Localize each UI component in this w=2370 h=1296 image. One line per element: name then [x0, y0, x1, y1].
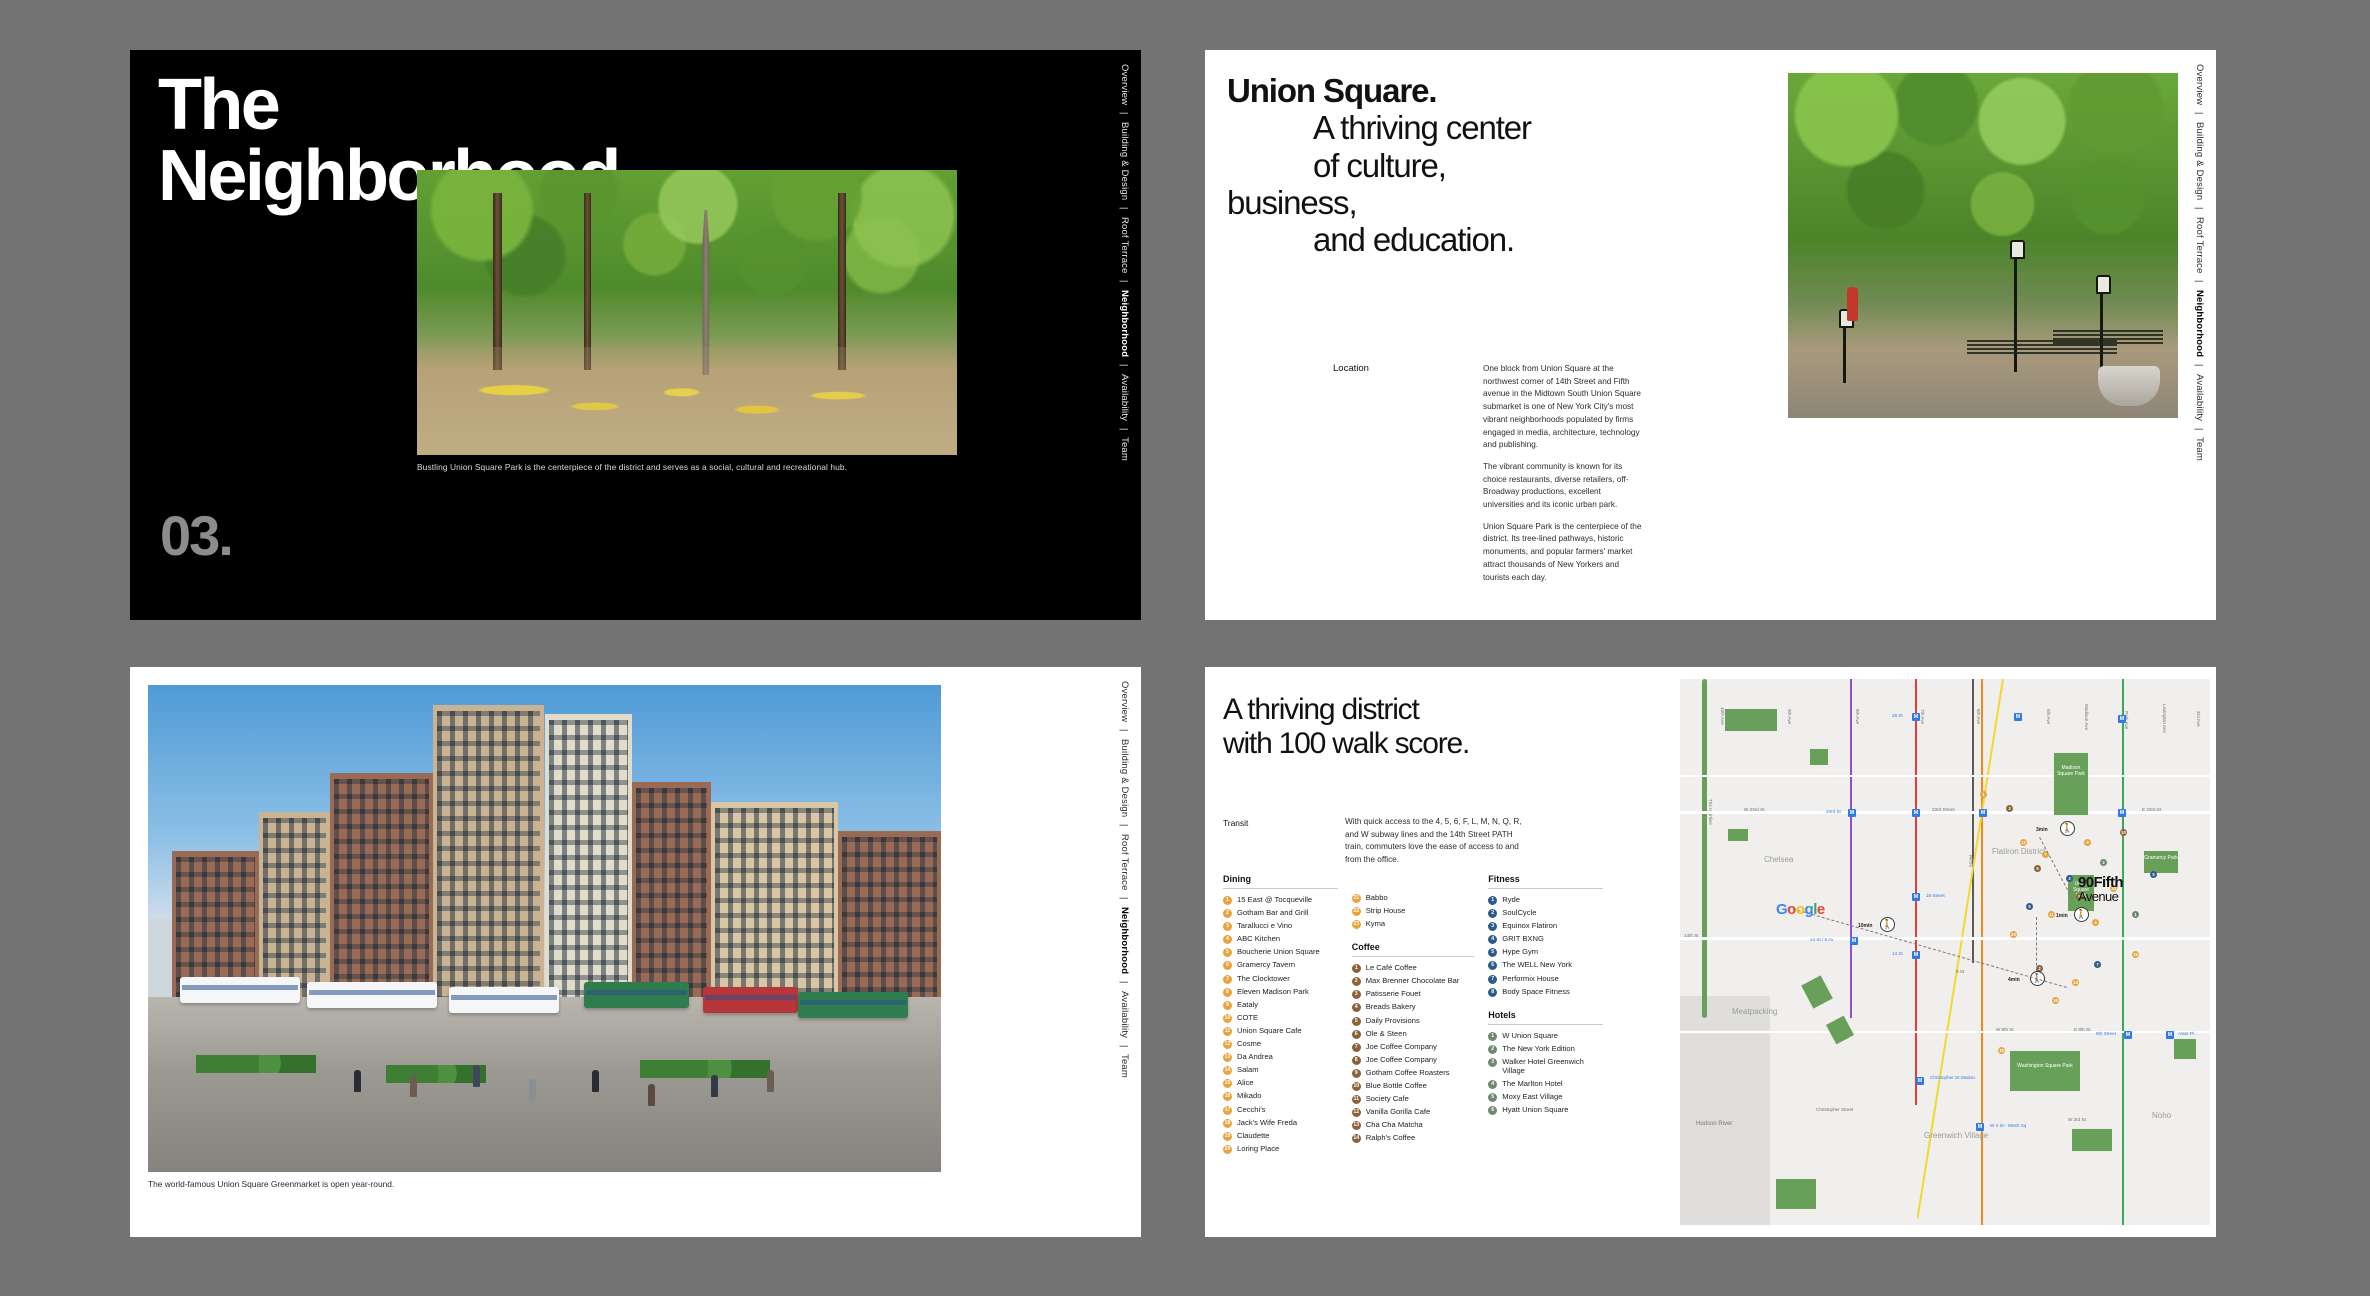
amenity-name: Breads Bakery: [1366, 1003, 1416, 1012]
map-station-8th-street: 8th Street: [2096, 1031, 2116, 1036]
amenity-item[interactable]: 5Hype Gym: [1488, 948, 1603, 957]
amenity-number: 9: [1223, 1001, 1232, 1010]
nav-item-neighborhood[interactable]: Neighborhood: [1119, 290, 1129, 357]
amenity-item[interactable]: 10COTE: [1223, 1014, 1338, 1023]
walk-time-pin: 🚶: [2074, 907, 2089, 922]
amenity-number: 14: [1352, 1134, 1361, 1143]
amenity-item[interactable]: 7Performix House: [1488, 975, 1603, 984]
map-station-28st: 28 St: [1892, 713, 1903, 718]
amenity-name: Salam: [1237, 1066, 1259, 1075]
map-ave-8th: 8th Ave: [1855, 709, 1860, 724]
amenity-number: 7: [1352, 1043, 1361, 1052]
nav-item-roof-terrace[interactable]: Roof Terrace: [1119, 217, 1129, 274]
amenity-number: 13: [1352, 1121, 1361, 1130]
amenity-item[interactable]: 2Max Brenner Chocolate Bar: [1352, 977, 1475, 986]
amenity-number: 3: [1488, 922, 1497, 931]
amenity-item[interactable]: 1W Union Square: [1488, 1032, 1603, 1041]
amenity-name: Equinox Flatiron: [1502, 922, 1557, 931]
map-street-23rd: 23rd Street: [1932, 807, 1955, 812]
amenity-item[interactable]: 4Breads Bakery: [1352, 1003, 1475, 1012]
location-paragraph: One block from Union Square at the north…: [1483, 363, 1643, 452]
amenity-number: 7: [1488, 975, 1497, 984]
amenity-item[interactable]: 6Hyatt Union Square: [1488, 1106, 1603, 1115]
amenity-item[interactable]: 12Cosme: [1223, 1040, 1338, 1049]
amenity-number: 1: [1352, 964, 1361, 973]
amenity-name: GRIT BXNG: [1502, 935, 1544, 944]
amenity-item[interactable]: 13Da Andrea: [1223, 1053, 1338, 1062]
category-title-coffee: Coffee: [1352, 942, 1475, 956]
nav-item-availability[interactable]: Availability: [2194, 374, 2204, 421]
amenity-number: 5: [1488, 1093, 1497, 1102]
nav-item-roof-terrace[interactable]: Roof Terrace: [2194, 217, 2204, 274]
amenity-name: SoulCycle: [1502, 909, 1536, 918]
nav-item-availability[interactable]: Availability: [1119, 991, 1129, 1038]
nav-item-building-design[interactable]: Building & Design: [1119, 122, 1129, 200]
amenity-number: 22: [1352, 907, 1361, 916]
amenity-item[interactable]: 3Patisserie Fouet: [1352, 990, 1475, 999]
amenity-name: Max Brenner Chocolate Bar: [1366, 977, 1460, 986]
amenity-item[interactable]: 7Joe Coffee Company: [1352, 1043, 1475, 1052]
amenity-item[interactable]: 8Body Space Fitness: [1488, 988, 1603, 997]
amenity-name: Cosme: [1237, 1040, 1261, 1049]
amenity-item[interactable]: 19Claudette: [1223, 1132, 1338, 1141]
walk-time-pin: 🚶: [1880, 917, 1895, 932]
slide-greenmarket: The world-famous Union Square Greenmarke…: [130, 667, 1141, 1237]
slide2-headline-line1: Union Square.: [1227, 72, 1436, 109]
amenity-item[interactable]: 17Cecchi's: [1223, 1106, 1338, 1115]
amenity-name: Alice: [1237, 1079, 1253, 1088]
slide-neighborhood-cover: The Neighborhood 03. Bustling Union Squa…: [130, 50, 1141, 620]
map-station-pin[interactable]: M: [1912, 713, 1920, 721]
amenity-number: 21: [1352, 894, 1361, 903]
category-rule: [1488, 1024, 1603, 1025]
union-square-park-photo: [417, 170, 957, 455]
amenity-name: Ole & Steen: [1366, 1030, 1407, 1039]
amenity-name: Boucherie Union Square: [1237, 948, 1320, 957]
amenity-name: Hype Gym: [1502, 948, 1538, 957]
amenity-number: 5: [1352, 1017, 1361, 1026]
amenity-item[interactable]: 23Kyma: [1352, 920, 1475, 929]
nav-separator: |: [1120, 897, 1129, 900]
amenity-item[interactable]: 1Ryde: [1488, 896, 1603, 905]
slide3-vertical-nav[interactable]: Overview | Building & Design | Roof Terr…: [1107, 667, 1141, 1237]
amenity-item[interactable]: 18Jack's Wife Freda: [1223, 1119, 1338, 1128]
amenity-number: 6: [1488, 1106, 1497, 1115]
walk-time-pin: 🚶: [2060, 821, 2075, 836]
amenity-item[interactable]: 5Boucherie Union Square: [1223, 948, 1338, 957]
nav-separator: |: [2195, 428, 2204, 431]
category-title-fitness: Fitness: [1488, 874, 1603, 888]
location-paragraph: The vibrant community is known for its c…: [1483, 461, 1643, 512]
nav-item-building-design[interactable]: Building & Design: [1119, 739, 1129, 817]
category-title-dining: Dining: [1223, 874, 1338, 888]
amenity-number: 23: [1352, 920, 1361, 929]
amenity-name: Da Andrea: [1237, 1053, 1273, 1062]
amenity-item[interactable]: 11Union Square Cafe: [1223, 1027, 1338, 1036]
map-ave-5th: 5th Ave: [2046, 709, 2051, 724]
nav-item-neighborhood[interactable]: Neighborhood: [1119, 907, 1129, 974]
presentation-deck: The Neighborhood 03. Bustling Union Squa…: [0, 0, 2370, 1296]
slide-walk-score-map: A thriving district with 100 walk score.…: [1205, 667, 2216, 1237]
map-park-washington-square: Washington Square Park: [2010, 1063, 2080, 1069]
map-street-e8: E 8th St: [2074, 1027, 2090, 1032]
amenity-name: Strip House: [1366, 907, 1406, 916]
amenity-number: 12: [1352, 1108, 1361, 1117]
amenity-item[interactable]: 14Salam: [1223, 1066, 1338, 1075]
amenity-item[interactable]: 15Alice: [1223, 1079, 1338, 1088]
union-square-pathway-photo: [1788, 73, 2178, 418]
walk-time-3min: 3min: [2036, 827, 2048, 833]
map-station-pin[interactable]: M: [1976, 1123, 1984, 1131]
slide4-headline: A thriving district with 100 walk score.: [1223, 693, 1653, 760]
nav-separator: |: [1120, 729, 1129, 732]
amenity-name: Walker Hotel Greenwich Village: [1502, 1058, 1603, 1076]
amenity-item[interactable]: 20Loring Place: [1223, 1145, 1338, 1154]
amenity-item[interactable]: 22Strip House: [1352, 907, 1475, 916]
amenity-number: 8: [1223, 988, 1232, 997]
amenity-number: 11: [1223, 1027, 1232, 1036]
amenity-item[interactable]: 12Vanilla Gorilla Cafe: [1352, 1108, 1475, 1117]
amenity-name: Gotham Coffee Roasters: [1366, 1069, 1450, 1078]
amenity-number: 1: [1488, 896, 1497, 905]
amenity-name: Le Café Coffee: [1366, 964, 1417, 973]
map-hood-greenwich-village: Greenwich Village: [1924, 1131, 1972, 1140]
amenity-name: Jack's Wife Freda: [1237, 1119, 1297, 1128]
slide2-vertical-nav[interactable]: Overview | Building & Design | Roof Terr…: [2182, 50, 2216, 620]
map-hood-flatiron: Flatiron District: [1992, 847, 2036, 856]
amenity-name: Hyatt Union Square: [1502, 1106, 1568, 1115]
nav-separator: |: [1120, 280, 1129, 283]
amenity-number: 6: [1352, 1030, 1361, 1039]
slide2-headline-line2: A thriving center: [1227, 109, 1757, 146]
map-street-9st: 9 St: [1956, 969, 1964, 974]
amenity-item[interactable]: 21Babbo: [1352, 894, 1475, 903]
amenity-name: Gramercy Tavern: [1237, 961, 1295, 970]
amenity-item[interactable]: 6Ole & Steen: [1352, 1030, 1475, 1039]
amenity-number: 13: [1223, 1053, 1232, 1062]
amenity-number: 11: [1352, 1095, 1361, 1104]
amenity-item[interactable]: 5Daily Provisions: [1352, 1017, 1475, 1026]
amenity-number: 4: [1223, 935, 1232, 944]
map-ave-10th: 10th Ave: [1720, 707, 1725, 725]
nav-separator: |: [1120, 824, 1129, 827]
amenity-number: 19: [1223, 1132, 1232, 1141]
neighborhood-map[interactable]: The Highline 10th Ave 9th Ave 8th Ave 7t…: [1680, 679, 2210, 1225]
amenity-name: The Clocktower: [1237, 975, 1290, 984]
amenity-name: The New York Edition: [1502, 1045, 1575, 1054]
amenity-name: COTE: [1237, 1014, 1258, 1023]
amenity-name: The WELL New York: [1502, 961, 1572, 970]
map-station-pin[interactable]: M: [1979, 809, 1987, 817]
nav-separator: |: [1120, 1045, 1129, 1048]
amenity-item[interactable]: 2SoulCycle: [1488, 909, 1603, 918]
map-hood-noho: Noho: [2152, 1111, 2171, 1120]
map-station-pin[interactable]: M: [1912, 951, 1920, 959]
amenity-number: 5: [1223, 948, 1232, 957]
slide2-headline-line4: business,: [1227, 184, 1757, 221]
amenity-number: 10: [1223, 1014, 1232, 1023]
amenity-name: Society Cafe: [1366, 1095, 1409, 1104]
map-ave-3rd: 3rd Ave: [2196, 711, 2201, 727]
map-station-pin[interactable]: M: [1912, 893, 1920, 901]
nav-separator: |: [1120, 207, 1129, 210]
map-hood-meatpacking: Meatpacking: [1732, 1007, 1777, 1016]
map-station-pin[interactable]: M: [1848, 809, 1856, 817]
slide1-vertical-nav[interactable]: Overview | Building & Design | Roof Terr…: [1107, 50, 1141, 620]
amenity-number: 20: [1223, 1145, 1232, 1154]
nav-separator: |: [2195, 364, 2204, 367]
map-station-18st: 18 Street: [1926, 893, 1945, 898]
amenity-item[interactable]: 16Mikado: [1223, 1092, 1338, 1101]
map-street-w23: W 23rd St: [1744, 807, 1764, 812]
category-rule: [1488, 888, 1603, 889]
slide1-photo-caption: Bustling Union Square Park is the center…: [417, 462, 1057, 472]
map-park-gramercy: Gramercy Park: [2144, 855, 2178, 861]
amenity-number: 3: [1223, 922, 1232, 931]
amenity-item[interactable]: 2The New York Edition: [1488, 1045, 1603, 1054]
amenity-number: 2: [1488, 909, 1497, 918]
transit-label: Transit: [1223, 818, 1248, 828]
slide4-headline-line1: A thriving district: [1223, 693, 1653, 727]
amenity-number: 10: [1352, 1082, 1361, 1091]
amenity-name: Ralph's Coffee: [1366, 1134, 1415, 1143]
amenity-name: Joe Coffee Company: [1366, 1056, 1437, 1065]
nav-separator: |: [1120, 428, 1129, 431]
amenities-lists: Dining115 East @ Tocqueville2Gotham Bar …: [1223, 874, 1603, 1158]
amenity-number: 8: [1352, 1056, 1361, 1065]
amenity-number: 2: [1352, 977, 1361, 986]
slide2-headline: Union Square. A thriving center of cultu…: [1227, 72, 1757, 258]
map-label-path: PATH: [1968, 855, 1973, 867]
map-station-pin[interactable]: M: [1916, 1077, 1924, 1085]
amenity-name: Body Space Fitness: [1502, 988, 1570, 997]
amenity-name: Cecchi's: [1237, 1106, 1265, 1115]
nav-separator: |: [2195, 207, 2204, 210]
slide2-headline-line5: and education.: [1227, 221, 1757, 258]
category-title-hotels: Hotels: [1488, 1010, 1603, 1024]
map-station-23rd: 23rd St: [1826, 809, 1841, 814]
map-address-label: 90Fifth Avenue: [2078, 875, 2123, 904]
map-street-e23: E 23rd St: [2142, 807, 2161, 812]
amenity-name: Blue Bottle Coffee: [1366, 1082, 1427, 1091]
slide1-title-line1: The: [158, 70, 619, 141]
slide1-section-number: 03.: [160, 503, 232, 568]
amenity-item[interactable]: 3Walker Hotel Greenwich Village: [1488, 1058, 1603, 1076]
amenity-number: 1: [1488, 1032, 1497, 1041]
nav-separator: |: [1120, 112, 1129, 115]
amenity-number: 4: [1352, 1003, 1361, 1012]
walk-time-1min: 1min: [2056, 913, 2068, 919]
amenity-name: Kyma: [1366, 920, 1385, 929]
amenity-name: Babbo: [1366, 894, 1388, 903]
amenity-number: 4: [1488, 1080, 1497, 1089]
nav-separator: |: [2195, 280, 2204, 283]
location-body: One block from Union Square at the north…: [1483, 363, 1643, 584]
amenity-number: 6: [1488, 961, 1497, 970]
map-hood-hudson-river: Hudson River: [1696, 1121, 1732, 1127]
map-station-christopher: Christopher St Station: [1930, 1075, 1975, 1081]
amenity-number: 9: [1352, 1069, 1361, 1078]
amenity-number: 17: [1223, 1106, 1232, 1115]
amenity-item[interactable]: 14Ralph's Coffee: [1352, 1134, 1475, 1143]
slide-union-square-intro: Union Square. A thriving center of cultu…: [1205, 50, 2216, 620]
nav-item-overview[interactable]: Overview: [1119, 681, 1129, 722]
nav-item-building-design[interactable]: Building & Design: [2194, 122, 2204, 200]
amenity-name: Joe Coffee Company: [1366, 1043, 1437, 1052]
category-rule: [1352, 956, 1475, 957]
amenity-number: 2: [1488, 1045, 1497, 1054]
amenity-name: Cha Cha Matcha: [1366, 1121, 1423, 1130]
amenity-name: Loring Place: [1237, 1145, 1279, 1154]
map-street-christopher: Christopher Street: [1816, 1107, 1853, 1112]
map-station-pin[interactable]: M: [1850, 937, 1858, 945]
map-station-astor: Astor Pl: [2178, 1031, 2194, 1036]
map-street-w3: W 3rd St: [2068, 1117, 2086, 1122]
nav-item-availability[interactable]: Availability: [1119, 374, 1129, 421]
amenity-item[interactable]: 9Gotham Coffee Roasters: [1352, 1069, 1475, 1078]
amenity-number: 8: [1488, 988, 1497, 997]
map-station-pin[interactable]: M: [2014, 713, 2022, 721]
amenities-column-dining: Dining115 East @ Tocqueville2Gotham Bar …: [1223, 874, 1338, 1158]
amenity-name: Mikado: [1237, 1092, 1261, 1101]
amenity-number: 2: [1223, 909, 1232, 918]
amenity-number: 16: [1223, 1092, 1232, 1101]
amenity-item[interactable]: 10Blue Bottle Coffee: [1352, 1082, 1475, 1091]
amenity-item[interactable]: 4GRIT BXNG: [1488, 935, 1603, 944]
amenity-item[interactable]: 2Gotham Bar and Grill: [1223, 909, 1338, 918]
amenity-item[interactable]: 13Cha Cha Matcha: [1352, 1121, 1475, 1130]
amenity-name: Performix House: [1502, 975, 1559, 984]
amenity-number: 12: [1223, 1040, 1232, 1049]
amenity-number: 15: [1223, 1079, 1232, 1088]
map-ave-7th: 7th Ave: [1920, 709, 1925, 724]
amenity-name: Claudette: [1237, 1132, 1270, 1141]
transit-body: With quick access to the 4, 5, 6, F, L, …: [1345, 816, 1530, 867]
location-label: Location: [1333, 363, 1369, 374]
amenity-item[interactable]: 115 East @ Tocqueville: [1223, 896, 1338, 905]
amenity-item[interactable]: 5Moxy East Village: [1488, 1093, 1603, 1102]
slide3-photo-caption: The world-famous Union Square Greenmarke…: [148, 1179, 394, 1189]
nav-item-neighborhood[interactable]: Neighborhood: [2194, 290, 2204, 357]
map-station-w4st: W 4 St - Wash Sq: [1990, 1123, 2026, 1128]
map-station-pin[interactable]: M: [2118, 809, 2126, 817]
amenity-name: Moxy East Village: [1502, 1093, 1562, 1102]
amenity-item[interactable]: 1Le Café Coffee: [1352, 964, 1475, 973]
nav-item-roof-terrace[interactable]: Roof Terrace: [1119, 834, 1129, 891]
amenity-name: Ryde: [1502, 896, 1520, 905]
amenity-name: ABC Kitchen: [1237, 935, 1280, 944]
amenity-item[interactable]: 9Eataly: [1223, 1001, 1338, 1010]
nav-separator: |: [1120, 364, 1129, 367]
map-street-w8: W 8th St: [1996, 1027, 2014, 1032]
map-station-pin[interactable]: M: [2118, 715, 2126, 723]
map-ave-madison: Madison Ave: [2084, 704, 2089, 730]
amenity-name: The Marlton Hotel: [1502, 1080, 1562, 1089]
amenity-number: 7: [1223, 975, 1232, 984]
amenity-item[interactable]: 6Gramercy Tavern: [1223, 961, 1338, 970]
category-rule: [1223, 888, 1338, 889]
amenity-number: 4: [1488, 935, 1497, 944]
amenity-name: W Union Square: [1502, 1032, 1558, 1041]
amenity-number: 6: [1223, 961, 1232, 970]
amenity-name: Eleven Madison Park: [1237, 988, 1309, 997]
amenity-name: Gotham Bar and Grill: [1237, 909, 1308, 918]
map-station-14st-8av: 14 St / 8 Av: [1810, 937, 1833, 942]
map-station-pin[interactable]: M: [2166, 1031, 2174, 1039]
amenity-name: Tarallucci e Vino: [1237, 922, 1292, 931]
greenmarket-photo: [148, 685, 941, 1172]
amenity-name: Vanilla Gorilla Cafe: [1366, 1108, 1430, 1117]
map-hood-chelsea: Chelsea: [1764, 855, 1793, 864]
amenity-number: 14: [1223, 1066, 1232, 1075]
nav-separator: |: [2195, 112, 2204, 115]
amenity-item[interactable]: 4The Marlton Hotel: [1488, 1080, 1603, 1089]
amenity-number: 3: [1488, 1058, 1497, 1067]
amenities-column-fitness-hotels: Fitness1Ryde2SoulCycle3Equinox Flatiron4…: [1488, 874, 1603, 1158]
amenity-name: Eataly: [1237, 1001, 1258, 1010]
nav-separator: |: [1120, 981, 1129, 984]
amenity-item[interactable]: 7The Clocktower: [1223, 975, 1338, 984]
amenity-number: 18: [1223, 1119, 1232, 1128]
walk-time-4min: 4min: [2008, 977, 2020, 983]
column-spacer: [1352, 874, 1475, 894]
nav-item-overview[interactable]: Overview: [2194, 64, 2204, 105]
nav-item-team[interactable]: Team: [2194, 437, 2204, 461]
amenity-number: 5: [1488, 948, 1497, 957]
amenity-number: 3: [1352, 990, 1361, 999]
amenity-item[interactable]: 4ABC Kitchen: [1223, 935, 1338, 944]
map-ave-6th: 6th Ave: [1976, 709, 1981, 724]
amenity-name: Daily Provisions: [1366, 1017, 1420, 1026]
amenity-item[interactable]: 8Eleven Madison Park: [1223, 988, 1338, 997]
amenity-item[interactable]: 8Joe Coffee Company: [1352, 1056, 1475, 1065]
map-station-pin[interactable]: M: [1912, 809, 1920, 817]
amenity-item[interactable]: 6The WELL New York: [1488, 961, 1603, 970]
amenity-item[interactable]: 11Society Cafe: [1352, 1095, 1475, 1104]
amenity-name: 15 East @ Tocqueville: [1237, 896, 1312, 905]
amenity-name: Union Square Cafe: [1237, 1027, 1302, 1036]
amenities-column-dining-coffee: 21Babbo22Strip House23KymaCoffee1Le Café…: [1352, 874, 1475, 1158]
nav-item-team[interactable]: Team: [1119, 437, 1129, 461]
amenity-item[interactable]: 3Tarallucci e Vino: [1223, 922, 1338, 931]
slide2-headline-line3: of culture,: [1227, 147, 1757, 184]
nav-item-overview[interactable]: Overview: [1119, 64, 1129, 105]
amenity-name: Patisserie Fouet: [1366, 990, 1421, 999]
map-ave-lexington: Lexington Ave: [2162, 704, 2167, 733]
map-park-madison-square: Madison Square Park: [2054, 765, 2088, 777]
google-logo: Google: [1776, 901, 1825, 918]
amenity-item[interactable]: 3Equinox Flatiron: [1488, 922, 1603, 931]
map-station-14st: 14 St: [1892, 951, 1903, 956]
slide4-headline-line2: with 100 walk score.: [1223, 727, 1653, 761]
nav-item-team[interactable]: Team: [1119, 1054, 1129, 1078]
map-station-pin[interactable]: M: [2124, 1031, 2132, 1039]
map-ave-9th: 9th Ave: [1787, 709, 1792, 724]
map-street-14th: 14th St: [1684, 933, 1699, 938]
amenity-number: 1: [1223, 896, 1232, 905]
location-paragraph: Union Square Park is the centerpiece of …: [1483, 521, 1643, 585]
map-address-line2: Avenue: [2078, 890, 2123, 903]
